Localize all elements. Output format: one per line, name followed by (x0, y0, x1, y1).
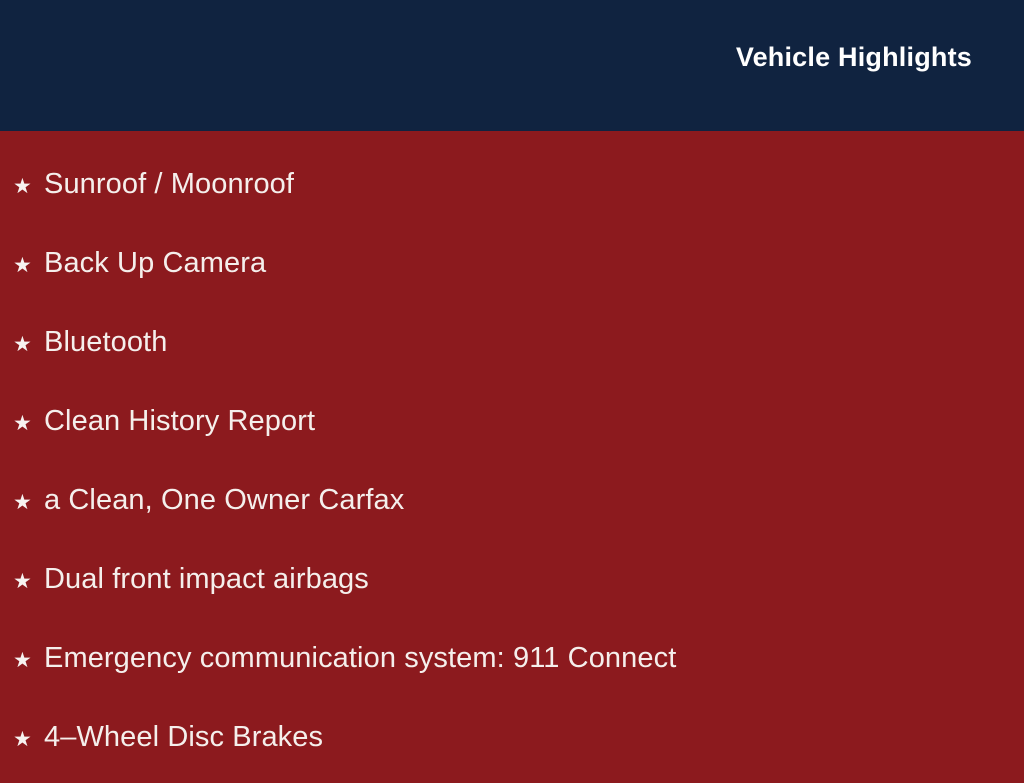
highlight-label: 4–Wheel Disc Brakes (44, 698, 984, 777)
highlight-label: Dual front impact airbags (44, 540, 984, 619)
star-bullet-icon: ★ (13, 463, 44, 542)
vehicle-highlights-slide: Vehicle Highlights ★ Sunroof / Moonroof … (0, 0, 1024, 768)
highlight-label: Clean History Report (44, 382, 984, 461)
list-item: ★ Dual front impact airbags (13, 540, 984, 619)
vehicle-highlights-list: ★ Sunroof / Moonroof ★ Back Up Camera ★ … (13, 145, 984, 777)
highlight-label: a Clean, One Owner Carfax (44, 461, 984, 540)
highlight-label: Emergency communication system: 911 Conn… (44, 619, 984, 698)
highlights-panel: ★ Sunroof / Moonroof ★ Back Up Camera ★ … (0, 131, 1024, 783)
highlight-label: Back Up Camera (44, 224, 984, 303)
list-item: ★ a Clean, One Owner Carfax (13, 461, 984, 540)
star-bullet-icon: ★ (13, 384, 44, 463)
list-item: ★ Sunroof / Moonroof (13, 145, 984, 224)
star-bullet-icon: ★ (13, 700, 44, 779)
list-item: ★ Clean History Report (13, 382, 984, 461)
slide-header: Vehicle Highlights (0, 0, 1024, 131)
star-bullet-icon: ★ (13, 621, 44, 700)
list-item: ★ Bluetooth (13, 303, 984, 382)
highlight-label: Sunroof / Moonroof (44, 145, 984, 224)
star-bullet-icon: ★ (13, 305, 44, 384)
list-item: ★ Back Up Camera (13, 224, 984, 303)
star-bullet-icon: ★ (13, 542, 44, 621)
page-title: Vehicle Highlights (736, 43, 972, 73)
star-bullet-icon: ★ (13, 226, 44, 305)
highlight-label: Bluetooth (44, 303, 984, 382)
list-item: ★ 4–Wheel Disc Brakes (13, 698, 984, 777)
list-item: ★ Emergency communication system: 911 Co… (13, 619, 984, 698)
star-bullet-icon: ★ (13, 147, 44, 226)
